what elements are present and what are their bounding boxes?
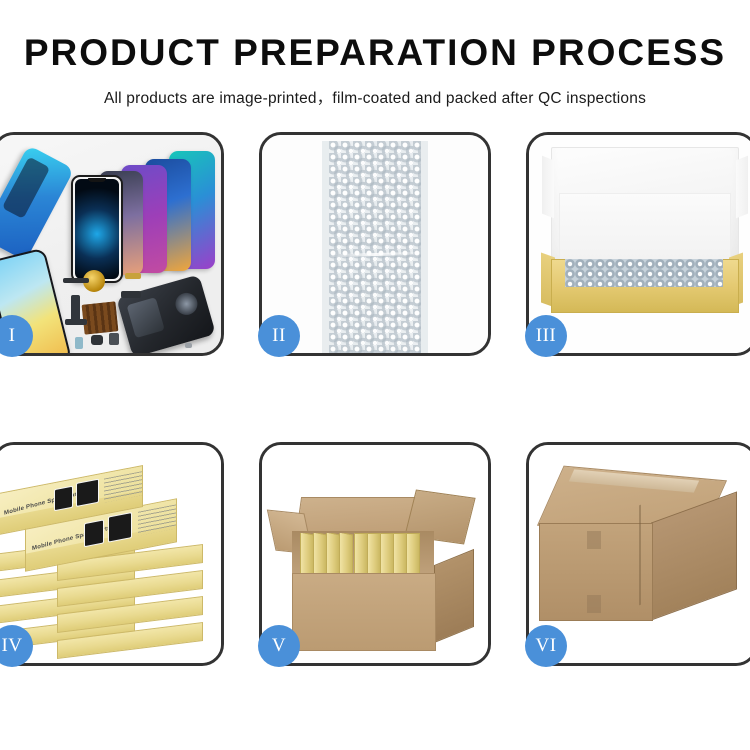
- inner-box-8: [393, 533, 407, 577]
- process-steps-grid: I II III: [0, 132, 750, 666]
- step-panel-3: III: [526, 132, 750, 356]
- step-image-3: [529, 135, 750, 353]
- glass-screen: [75, 179, 119, 279]
- box-window-back-1: [54, 486, 73, 512]
- page-subtitle: All products are image-printed，film-coat…: [0, 86, 750, 108]
- inner-box-4: [339, 533, 353, 577]
- page-title: PRODUCT PREPARATION PROCESS: [0, 34, 750, 71]
- step-image-5: [262, 445, 488, 663]
- step-badge-6: VI: [525, 625, 567, 667]
- flex-cable-2: [65, 319, 87, 325]
- step-image-6: [529, 445, 750, 663]
- flex-cable-1: [71, 295, 80, 321]
- box-window-front-1: [84, 519, 104, 547]
- box-window-back-2: [76, 479, 99, 507]
- step-image-1: [0, 135, 221, 353]
- foam-insert: [559, 193, 731, 261]
- box-stack: Mobile Phone Spare Parts Mobile Phone Sp…: [0, 445, 221, 663]
- page-header: PRODUCT PREPARATION PROCESS All products…: [0, 0, 750, 108]
- box-window-front-2: [108, 512, 132, 543]
- inner-box-2: [313, 533, 327, 577]
- phone-front-glass: [71, 175, 123, 283]
- phone-chassis: [116, 274, 216, 353]
- step-panel-2: II: [259, 132, 491, 356]
- carton-tab-bottom: [587, 595, 601, 613]
- inner-box-9: [406, 533, 420, 577]
- small-part-4: [91, 335, 103, 345]
- carton-tab-top: [587, 531, 601, 549]
- carton-front-panel: [292, 573, 436, 651]
- small-part-1: [63, 278, 89, 283]
- step-panel-4: Mobile Phone Spare Parts Mobile Phone Sp…: [0, 442, 224, 666]
- carton-edge-seam: [639, 505, 641, 606]
- inner-boxes-group: [300, 533, 428, 577]
- step-panel-1: I: [0, 132, 224, 356]
- bubble-wrap-pack: [322, 141, 428, 353]
- carton-side-panel: [434, 549, 474, 643]
- notch-icon: [88, 178, 106, 182]
- small-part-6: [75, 337, 83, 349]
- step-panel-6: VI: [526, 442, 750, 666]
- screw-part: [185, 343, 192, 348]
- inner-box-7: [380, 533, 394, 577]
- connector-board-part: [82, 301, 119, 334]
- step-image-4: Mobile Phone Spare Parts Mobile Phone Sp…: [0, 445, 221, 663]
- step-panel-5: V: [259, 442, 491, 666]
- step-badge-3: III: [525, 315, 567, 357]
- inner-box-5: [354, 533, 368, 577]
- step-badge-2: II: [258, 315, 300, 357]
- bubble-texture-overlay: [329, 141, 421, 353]
- step-badge-5: V: [258, 625, 300, 667]
- small-part-5: [109, 333, 119, 345]
- inner-box-1: [300, 533, 314, 577]
- step-image-2: [262, 135, 488, 353]
- inner-box-3: [326, 533, 340, 577]
- small-part-3: [121, 291, 141, 298]
- small-part-2: [125, 273, 141, 279]
- phone-fan-group: [57, 149, 221, 279]
- bubble-wrapped-item: [565, 259, 723, 287]
- inner-box-6: [367, 533, 381, 577]
